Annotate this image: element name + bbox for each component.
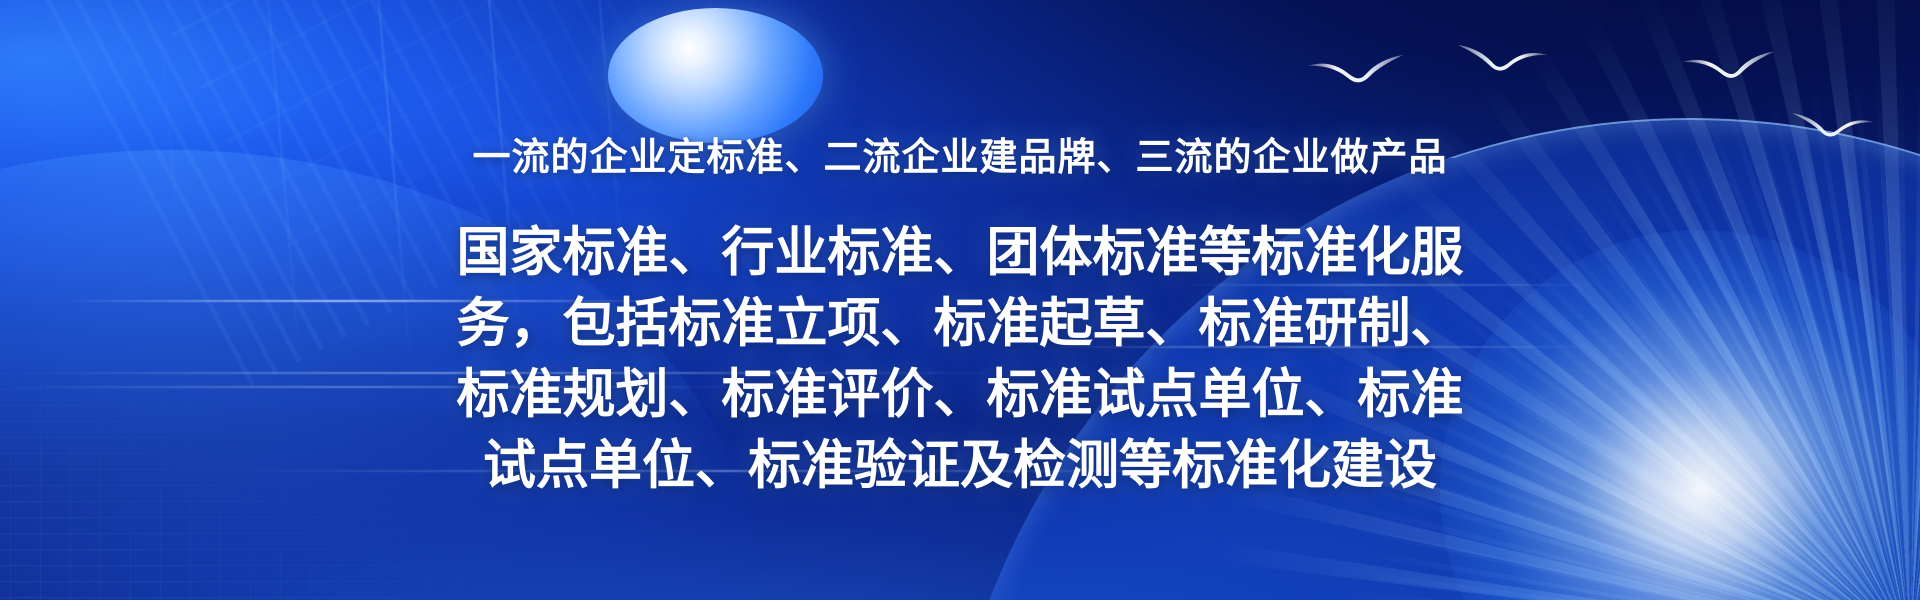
banner-body-line: 务，包括标准立项、标准起草、标准研制、 <box>0 288 1920 359</box>
banner-body-line: 标准规划、标准评价、标准试点单位、标准 <box>0 359 1920 430</box>
banner-text-block: 一流的企业定标准、二流企业建品牌、三流的企业做产品 国家标准、行业标准、团体标准… <box>0 0 1920 501</box>
banner-body-copy: 国家标准、行业标准、团体标准等标准化服务，包括标准立项、标准起草、标准研制、标准… <box>0 181 1920 501</box>
banner-headline: 一流的企业定标准、二流企业建品牌、三流的企业做产品 <box>0 0 1920 181</box>
banner-body-line: 国家标准、行业标准、团体标准等标准化服 <box>0 217 1920 288</box>
promo-banner: 一流的企业定标准、二流企业建品牌、三流的企业做产品 国家标准、行业标准、团体标准… <box>0 0 1920 600</box>
banner-body-line: 试点单位、标准验证及检测等标准化建设 <box>0 430 1920 501</box>
